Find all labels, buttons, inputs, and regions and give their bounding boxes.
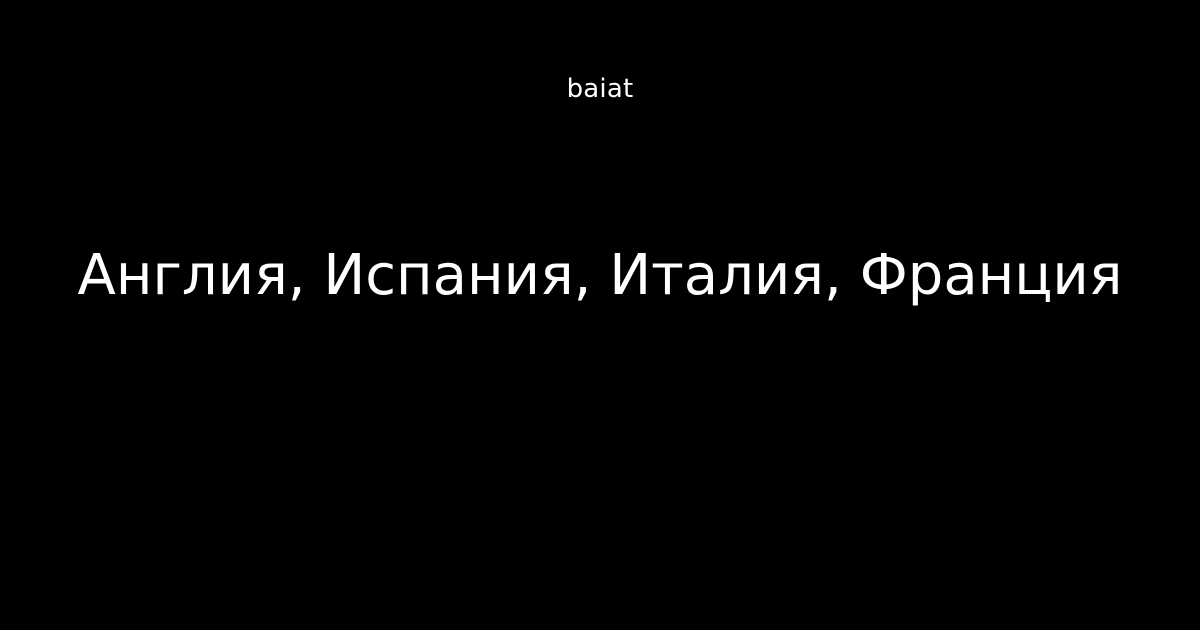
site-label-text: baiat [567,74,634,104]
headline-container: Англия, Испания, Италия, Франция [0,240,1200,312]
empty-lower-region [0,340,1200,630]
share-card: baiat Англия, Испания, Италия, Франция [0,0,1200,630]
site-label: baiat [0,0,1200,112]
page-title: Англия, Испания, Италия, Франция [78,240,1123,312]
